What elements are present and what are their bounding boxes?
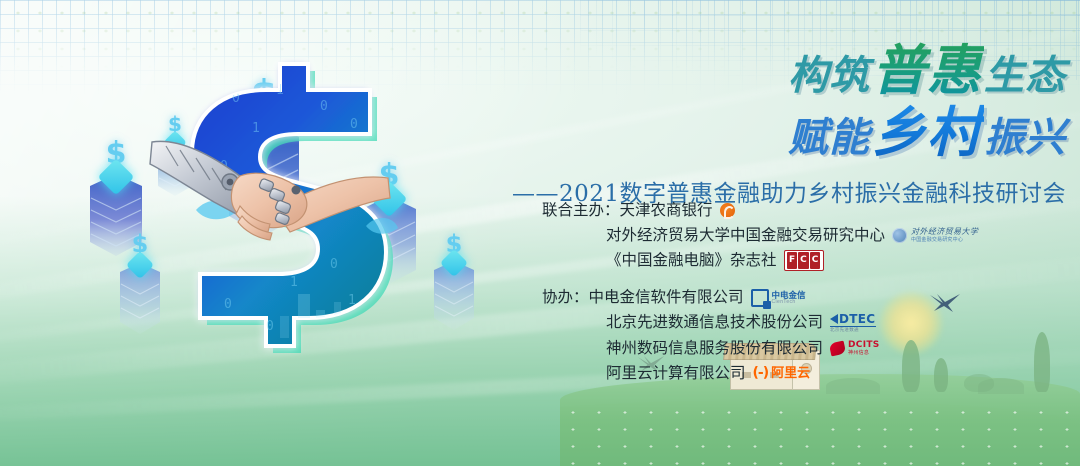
org-name: 对外经济贸易大学中国金融交易研究中心 xyxy=(606,223,885,248)
org-name: 天津农商银行 xyxy=(620,198,713,223)
flower-field xyxy=(560,404,1080,466)
svg-text:1: 1 xyxy=(290,275,298,290)
title-seg-shengtai: 生态 xyxy=(984,53,1066,99)
cientech-logo-en: CienTech xyxy=(772,300,806,305)
title-line-1: 构筑普惠生态 xyxy=(486,44,1066,98)
credits-block: 联合主办： 天津农商银行 对外经济贸易大学中国金融交易研究中心 对外经济贸易大学… xyxy=(542,198,962,398)
tree xyxy=(964,374,994,392)
poster-canvas: $ $ $ $ $ $ xyxy=(0,0,1080,466)
dcits-logo: DCITS 神州信息 xyxy=(830,341,880,356)
org-name: 北京先进数通信息技术股份公司 xyxy=(606,310,823,335)
dcits-logo-sub: 神州信息 xyxy=(848,351,880,356)
uibe-logo-sub: 中国金融交易研究中心 xyxy=(911,238,978,243)
credit-row: 《中国金融电脑》杂志社 FCC xyxy=(542,248,962,273)
uibe-logo-main: 对外经济贸易大学 xyxy=(911,228,978,236)
dtec-logo-sub: 北京先进数通 xyxy=(830,328,859,333)
dtec-logo: DTEC 北京先进数通 xyxy=(830,313,876,333)
credit-group-hosts: 联合主办： 天津农商银行 对外经济贸易大学中国金融交易研究中心 对外经济贸易大学… xyxy=(542,198,962,273)
dtec-triangle-icon xyxy=(830,314,838,324)
aliyun-bracket-icon: (-) xyxy=(753,362,769,385)
title-seg-funeng: 赋能 xyxy=(788,115,870,161)
tree xyxy=(1034,332,1050,392)
org-name: 神州数码信息服务股份有限公司 xyxy=(606,336,823,361)
svg-text:1: 1 xyxy=(348,293,356,308)
credit-label-coorganizers: 协办： xyxy=(542,285,589,310)
cientech-mark-icon xyxy=(751,289,769,307)
tianjin-rural-bank-logo xyxy=(720,203,735,218)
credit-row: 阿里云计算有限公司 (-) 阿里云 xyxy=(542,361,962,386)
title-block: 构筑普惠生态 赋能乡村振兴 ——2021数字普惠金融助力乡村振兴金融科技研讨会 xyxy=(486,44,1066,208)
credit-row: 协办： 中电金信软件有限公司 中电金信 CienTech xyxy=(542,285,962,310)
aliyun-logo: (-) 阿里云 xyxy=(753,362,811,385)
title-seg-zhenxing: 振兴 xyxy=(984,115,1066,161)
handshake-icon xyxy=(144,120,394,260)
fcc-letter: C xyxy=(810,252,821,269)
globe-icon xyxy=(892,228,907,243)
title-seg-gouzhu: 构筑 xyxy=(788,53,870,99)
credit-row: 对外经济贸易大学中国金融交易研究中心 对外经济贸易大学 中国金融交易研究中心 xyxy=(542,223,962,248)
dollar-sign-graphic: 010 101 010 101 010 xyxy=(180,58,410,368)
svg-text:0: 0 xyxy=(224,297,232,312)
title-line-2: 赋能乡村振兴 xyxy=(486,106,1066,160)
svg-text:0: 0 xyxy=(320,99,328,114)
fcc-letter: C xyxy=(798,252,809,269)
svg-text:0: 0 xyxy=(266,319,274,334)
credit-label-hosts: 联合主办： xyxy=(542,198,620,223)
fcc-magazine-logo: FCC xyxy=(784,250,824,271)
coin-pedestal: $ xyxy=(118,260,162,355)
org-name: 阿里云计算有限公司 xyxy=(606,361,746,386)
title-seg-xiangcun: 乡村 xyxy=(870,101,984,164)
credit-row: 联合主办： 天津农商银行 xyxy=(542,198,962,223)
credit-row: 神州数码信息服务股份有限公司 DCITS 神州信息 xyxy=(542,336,962,361)
fcc-letter: F xyxy=(787,252,797,269)
dcits-logo-name: DCITS xyxy=(848,341,880,350)
aliyun-logo-cn: 阿里云 xyxy=(771,363,810,384)
credit-group-coorganizers: 协办： 中电金信软件有限公司 中电金信 CienTech 北京先进数通信息技术股… xyxy=(542,285,962,385)
org-name: 中电金信软件有限公司 xyxy=(589,285,744,310)
uibe-logo: 对外经济贸易大学 中国金融交易研究中心 xyxy=(892,228,978,243)
cientech-logo: 中电金信 CienTech xyxy=(751,289,806,307)
credit-row: 北京先进数通信息技术股份公司 DTEC 北京先进数通 xyxy=(542,310,962,335)
coin-pedestal: $ xyxy=(432,258,476,349)
dollar-handshake-artwork: $ $ $ $ $ $ xyxy=(60,40,520,400)
dcits-swoosh-icon xyxy=(829,340,846,356)
dtec-logo-name: DTEC xyxy=(839,313,875,325)
org-name: 《中国金融电脑》杂志社 xyxy=(606,248,777,273)
title-seg-puhui: 普惠 xyxy=(870,39,984,102)
